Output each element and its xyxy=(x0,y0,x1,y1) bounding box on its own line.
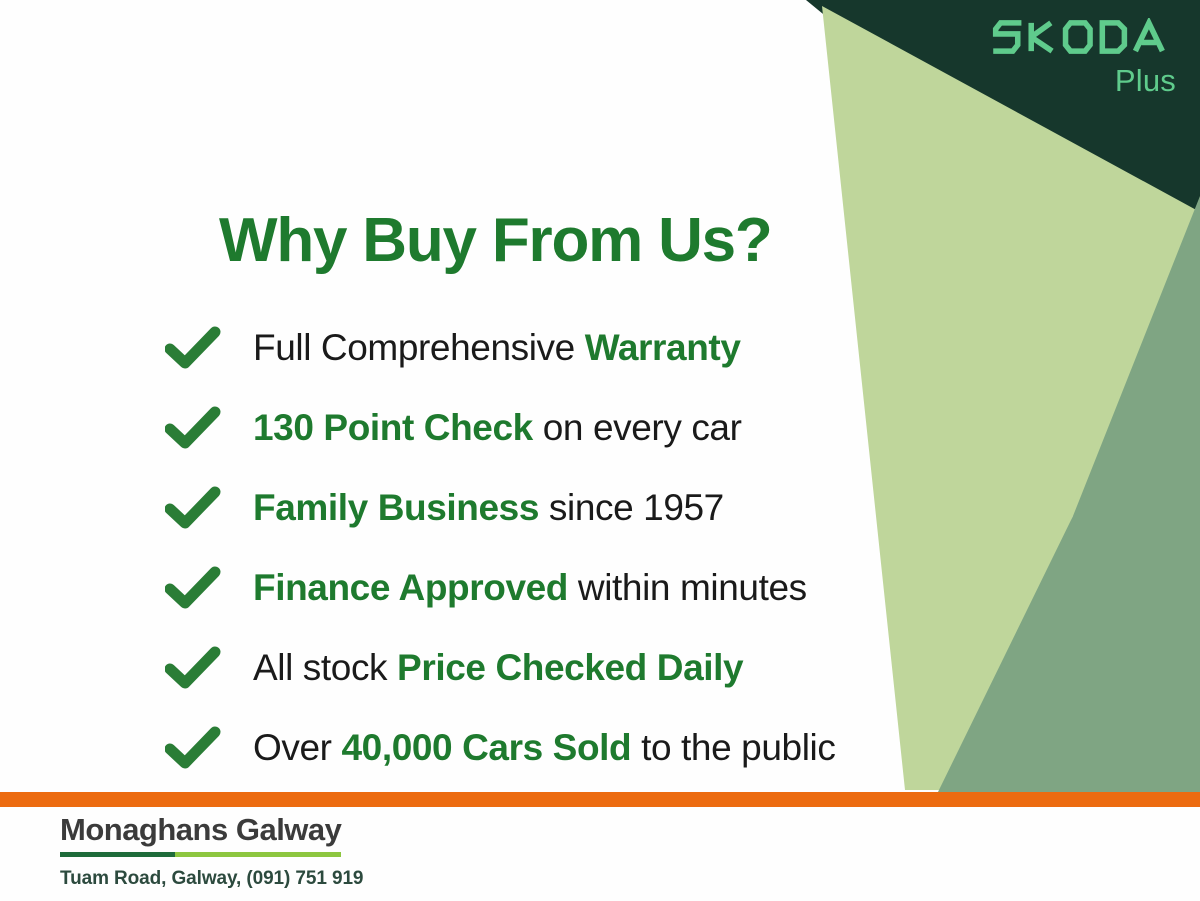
dealer-name-label: Monaghans Galway xyxy=(60,812,341,847)
list-item: Over 40,000 Cars Sold to the public xyxy=(165,708,835,788)
dealer-name: Monaghans Galway xyxy=(60,812,341,857)
skoda-plus-label: Plus xyxy=(992,65,1176,96)
list-item: 130 Point Check on every car xyxy=(165,388,835,468)
footer: Monaghans Galway Tuam Road, Galway, (091… xyxy=(60,812,363,890)
benefit-highlight: Family Business xyxy=(253,487,539,528)
benefit-highlight: Finance Approved xyxy=(253,567,568,608)
skoda-plus-logo: Plus xyxy=(992,18,1176,96)
list-item: Finance Approved within minutes xyxy=(165,548,835,628)
benefit-post: since 1957 xyxy=(539,487,724,528)
skoda-wordmark-icon xyxy=(992,18,1176,56)
benefit-label: Finance Approved within minutes xyxy=(253,567,807,609)
benefit-label: Over 40,000 Cars Sold to the public xyxy=(253,727,835,769)
light-green-triangle xyxy=(822,6,1200,790)
orange-divider xyxy=(0,792,1200,807)
list-item: Full Comprehensive Warranty xyxy=(165,308,835,388)
benefit-pre: Over xyxy=(253,727,341,768)
page-title: Why Buy From Us? xyxy=(219,205,772,276)
poster-canvas: Plus Why Buy From Us? Full Comprehensive… xyxy=(0,0,1200,901)
benefit-label: 130 Point Check on every car xyxy=(253,407,742,449)
benefit-post: within minutes xyxy=(568,567,807,608)
check-mark-icon xyxy=(165,406,221,450)
benefit-highlight: Warranty xyxy=(585,327,741,368)
check-mark-icon xyxy=(165,486,221,530)
benefit-label: Family Business since 1957 xyxy=(253,487,724,529)
sage-green-wedge xyxy=(938,196,1200,792)
check-mark-icon xyxy=(165,326,221,370)
check-mark-icon xyxy=(165,646,221,690)
underline-light-segment xyxy=(175,852,341,857)
benefit-highlight: 40,000 Cars Sold xyxy=(341,727,631,768)
benefits-list: Full Comprehensive Warranty 130 Point Ch… xyxy=(165,308,835,788)
dealer-name-underline xyxy=(60,852,341,857)
underline-dark-segment xyxy=(60,852,175,857)
benefit-pre: Full Comprehensive xyxy=(253,327,585,368)
benefit-highlight: Price Checked Daily xyxy=(397,647,743,688)
benefit-label: All stock Price Checked Daily xyxy=(253,647,743,689)
benefit-post: to the public xyxy=(631,727,835,768)
check-mark-icon xyxy=(165,726,221,770)
list-item: Family Business since 1957 xyxy=(165,468,835,548)
benefit-highlight: 130 Point Check xyxy=(253,407,533,448)
benefit-post: on every car xyxy=(533,407,742,448)
benefit-label: Full Comprehensive Warranty xyxy=(253,327,741,369)
dealer-address: Tuam Road, Galway, (091) 751 919 xyxy=(60,868,363,890)
list-item: All stock Price Checked Daily xyxy=(165,628,835,708)
check-mark-icon xyxy=(165,566,221,610)
benefit-pre: All stock xyxy=(253,647,397,688)
